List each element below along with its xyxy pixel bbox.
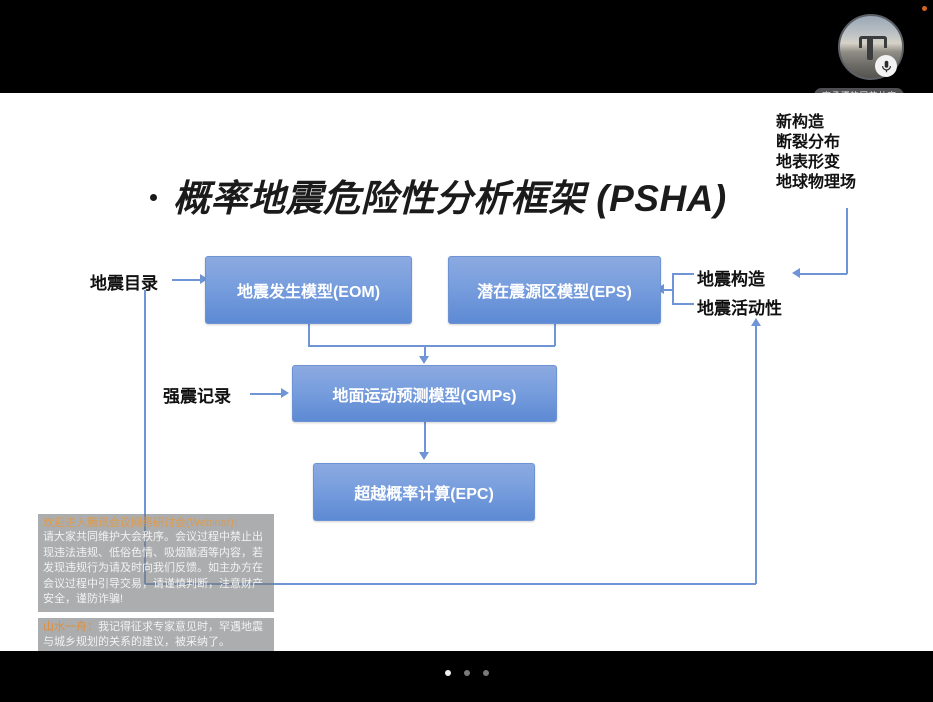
arrow-into-epc-box	[419, 452, 429, 460]
page-dot-3[interactable]	[483, 670, 489, 676]
connector-tectonics-to-eps	[672, 273, 694, 275]
annotation-line-4: 地球物理场	[776, 173, 856, 193]
microphone-icon[interactable]	[875, 55, 897, 77]
chat-user-name: 山水一舟：	[43, 621, 98, 633]
flow-box-eps-label: 潜在震源区模型(EPS)	[477, 278, 632, 302]
bottom-letterbox-bar	[0, 651, 933, 702]
flow-box-gmps-label: 地面运动预测模型(GMPs)	[332, 382, 516, 406]
label-seismicity: 地震活动性	[697, 294, 782, 319]
avatar-figure-arms	[859, 36, 887, 48]
arrow-into-gmps-side	[281, 388, 289, 398]
arrow-into-gmps-box	[419, 356, 429, 364]
label-seismotectonics: 地震构造	[697, 265, 765, 290]
input-data-annotations: 新构造 断裂分布 地表形变 地球物理场	[776, 113, 856, 193]
bullet-icon	[150, 194, 157, 201]
page-title: 概率地震危险性分析框架 (PSHA)	[173, 168, 727, 222]
label-earthquake-catalog: 地震目录	[90, 269, 158, 294]
flow-box-epc-label: 超越概率计算(EPC)	[354, 480, 494, 504]
connector-feedback-up-right	[755, 324, 757, 584]
connector-eom-eps-join	[308, 345, 555, 347]
avatar-figure-body	[867, 38, 873, 60]
flow-box-eps[interactable]: 潜在震源区模型(EPS)	[448, 256, 661, 324]
connector-eps-down	[554, 324, 556, 346]
recording-indicator-dot	[922, 6, 927, 11]
top-letterbox-bar	[0, 0, 933, 93]
chat-message-system[interactable]: 欢迎进入腾讯会议网络研讨会(Webinar)! 请大家共同维护大会秩序。会议过程…	[38, 514, 274, 612]
annotation-line-3: 地表形变	[776, 153, 856, 173]
page-dot-1[interactable]	[445, 670, 451, 676]
chat-message-user[interactable]: 山水一舟：我记得征求专家意见时，罕遇地震与城乡规划的关系的建议，被采纳了。	[38, 618, 274, 655]
slide-title-row: 概率地震危险性分析框架 (PSHA)	[150, 168, 727, 222]
connector-annotations-vertical	[846, 208, 848, 274]
label-strong-motion-records: 强震记录	[163, 382, 231, 407]
flow-box-gmps[interactable]: 地面运动预测模型(GMPs)	[292, 365, 557, 422]
chat-overlay: 欢迎进入腾讯会议网络研讨会(Webinar)! 请大家共同维护大会秩序。会议过程…	[38, 514, 274, 661]
arrow-into-tectonics	[792, 268, 800, 278]
flow-box-epc[interactable]: 超越概率计算(EPC)	[313, 463, 535, 521]
annotation-line-1: 新构造	[776, 113, 856, 133]
page-indicator[interactable]	[0, 670, 933, 676]
flow-box-eom-label: 地震发生模型(EOM)	[237, 278, 380, 302]
connector-seismicity-to-eps	[672, 303, 694, 305]
connector-gmps-to-epc	[424, 422, 426, 453]
annotation-line-2: 断裂分布	[776, 133, 856, 153]
screen-share-viewer: 高孟潭的屏幕共享 概率地震危险性分析框架 (PSHA) 新构造 断裂分布 地表形…	[0, 0, 933, 702]
connector-bracket-to-eps	[663, 289, 673, 291]
flow-box-eom[interactable]: 地震发生模型(EOM)	[205, 256, 412, 324]
connector-strong-motion-to-gmps	[250, 393, 284, 395]
connector-eom-down	[308, 324, 310, 346]
arrow-feedback-to-seismicity	[751, 318, 761, 326]
chat-system-header: 欢迎进入腾讯会议网络研讨会(Webinar)!	[43, 516, 269, 530]
page-dot-2[interactable]	[464, 670, 470, 676]
connector-annotations-horizontal	[800, 273, 847, 275]
